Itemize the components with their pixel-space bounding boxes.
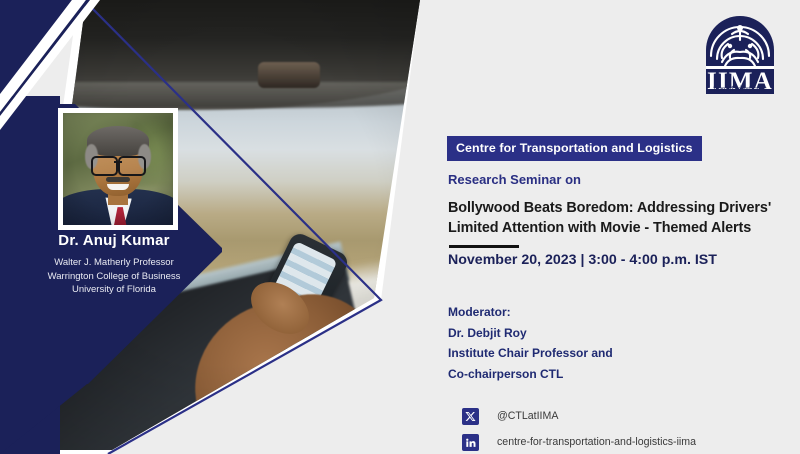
centre-badge: Centre for Transportation and Logistics [447,136,702,161]
social-row-x[interactable]: @CTLatIIMA [462,405,696,427]
headshot-vignette [63,113,173,225]
social-row-linkedin[interactable]: centre-for-transportation-and-logistics-… [462,431,696,453]
speaker-affiliation-line-2: Warrington College of Business [0,270,228,284]
seminar-datetime: November 20, 2023 | 3:00 - 4:00 p.m. IST [448,252,717,268]
social-links: @CTLatIIMA centre-for-transportation-and… [462,405,696,454]
speaker-affiliation-line-3: University of Florida [0,283,228,297]
x-handle[interactable]: @CTLatIIMA [497,410,558,422]
moderator-title-line-1: Institute Chair Professor and [448,343,613,364]
x-twitter-icon[interactable] [462,408,479,425]
moderator-label: Moderator: [448,302,613,323]
content-column: Centre for Transportation and Logistics … [447,0,787,454]
moderator-title-line-2: Co-chairperson CTL [448,364,613,385]
speaker-headshot [63,113,173,225]
moderator-name: Dr. Debjit Roy [448,323,613,344]
seminar-title: Bollywood Beats Boredom: Addressing Driv… [448,198,778,238]
seminar-kicker: Research Seminar on [448,172,581,187]
seminar-title-line-2: Limited Attention with Movie - Themed Al… [448,218,778,238]
linkedin-handle[interactable]: centre-for-transportation-and-logistics-… [497,436,696,448]
moderator-block: Moderator: Dr. Debjit Roy Institute Chai… [448,302,613,384]
linkedin-icon[interactable] [462,434,479,451]
speaker-photo-frame [58,108,178,230]
title-divider [449,245,519,248]
photo-door-handle [300,361,386,388]
seminar-title-line-1: Bollywood Beats Boredom: Addressing Driv… [448,198,778,218]
speaker-affiliation: Walter J. Matherly Professor Warrington … [0,256,228,297]
speaker-affiliation-line-1: Walter J. Matherly Professor [0,256,228,270]
seminar-poster: Dr. Anuj Kumar Walter J. Matherly Profes… [0,0,800,454]
speaker-name: Dr. Anuj Kumar [0,232,228,249]
